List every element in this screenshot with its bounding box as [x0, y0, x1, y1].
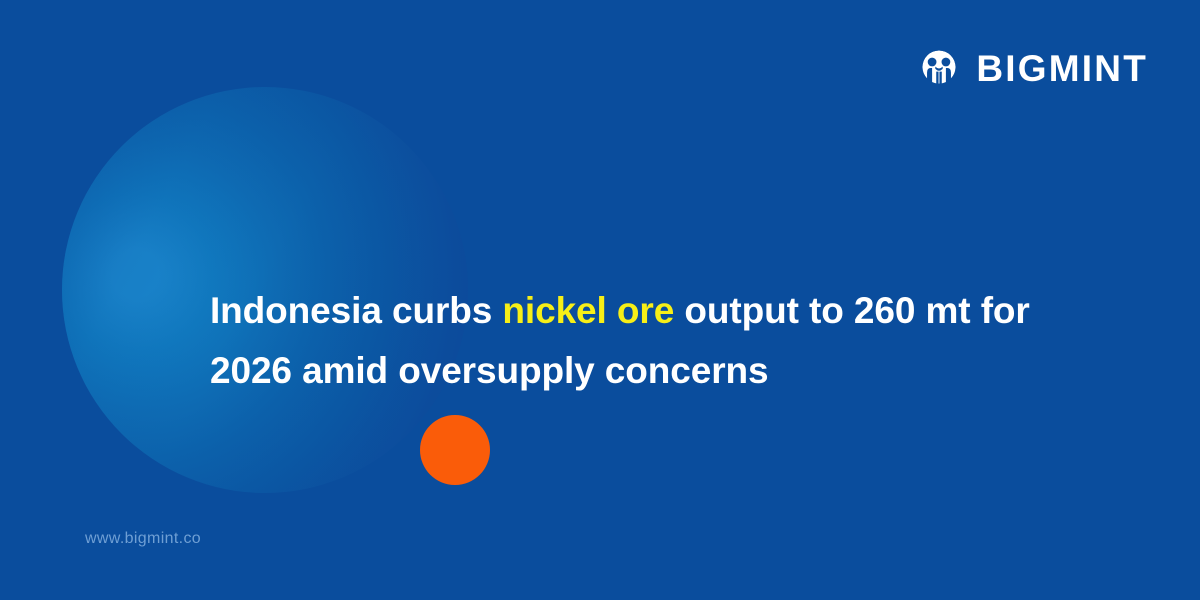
- headline: Indonesia curbs nickel ore output to 260…: [210, 281, 1110, 401]
- brand-logo: BIGMINT: [916, 45, 1148, 91]
- site-url: www.bigmint.co: [85, 531, 201, 547]
- orange-dot-decoration: [420, 415, 490, 485]
- brand-wordmark: BIGMINT: [976, 50, 1148, 87]
- headline-highlight: nickel ore: [502, 290, 674, 331]
- headline-segment-1: Indonesia curbs: [210, 290, 502, 331]
- two-figures-circle-icon: [916, 45, 962, 91]
- news-card: BIGMINT Indonesia curbs nickel ore outpu…: [0, 0, 1200, 600]
